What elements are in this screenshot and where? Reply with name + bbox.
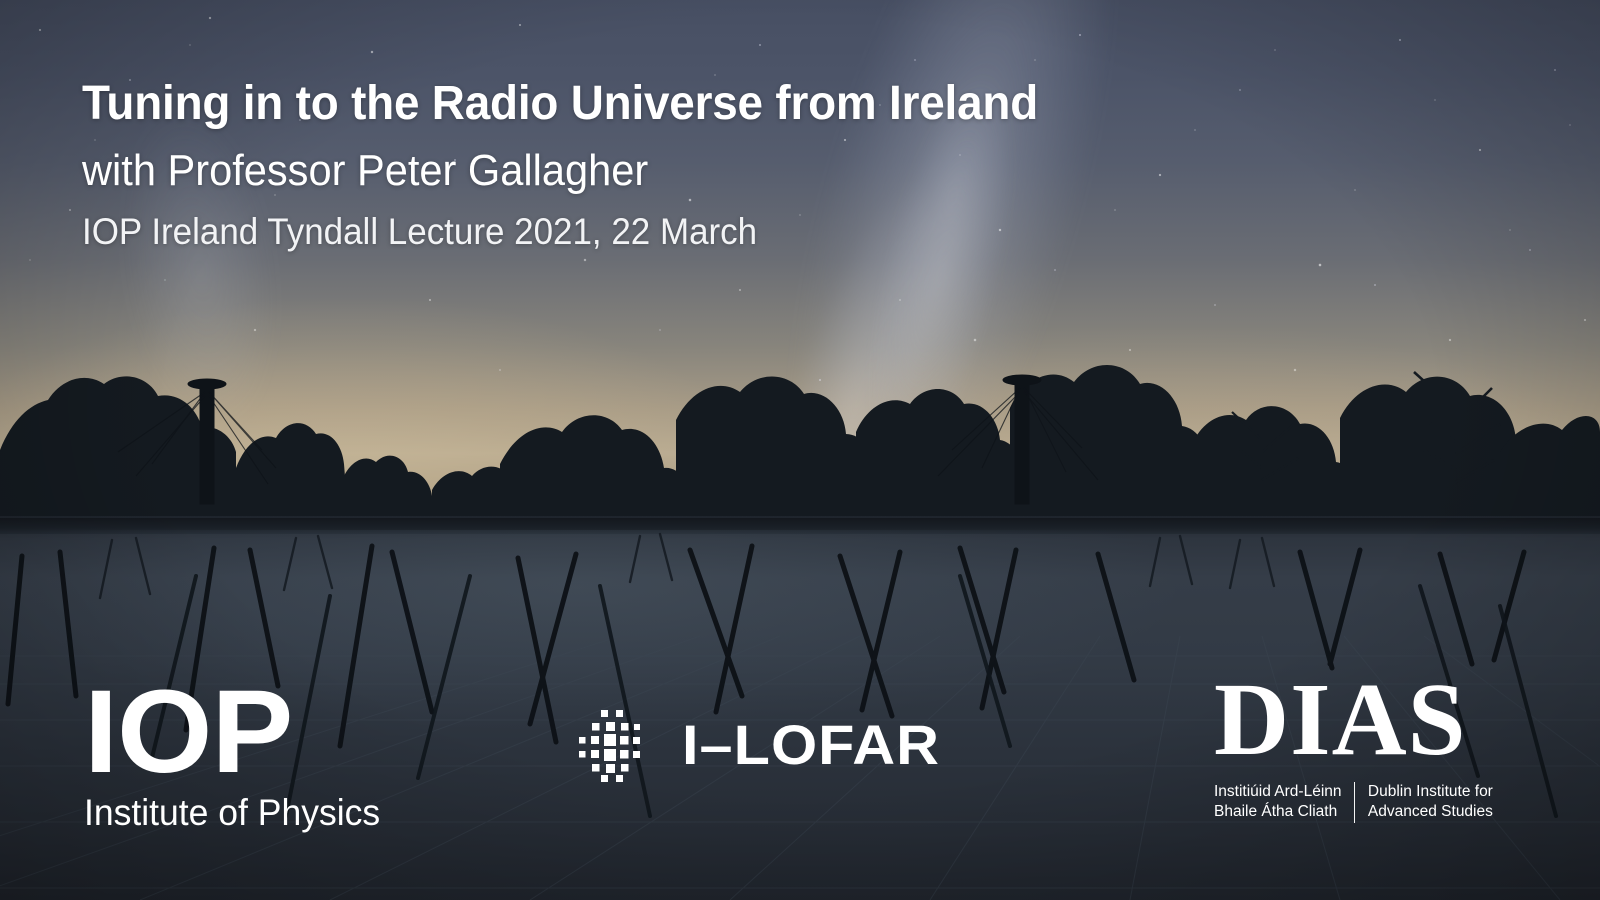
dias-english-line-1: Dublin Institute for [1368,782,1493,802]
ilofar-logo[interactable]: I–LOFAR [576,708,925,782]
dias-tagline-irish: Institiúid Ard-Léinn Bhaile Átha Cliath [1214,782,1354,823]
slide-title: Tuning in to the Radio Universe from Ire… [82,76,1228,133]
lecture-title-slide: Tuning in to the Radio Universe from Ire… [0,0,1600,900]
dot-matrix-icon [576,708,648,782]
iop-wordmark: IOP [84,678,365,788]
dias-irish-line-2: Bhaile Átha Cliath [1214,802,1342,822]
dias-english-line-2: Advanced Studies [1368,802,1493,822]
slide-text-block: Tuning in to the Radio Universe from Ire… [82,76,1282,253]
iop-logo[interactable]: IOP Institute of Physics [84,678,354,831]
dias-wordmark: DIAS [1214,668,1514,772]
slide-event-line: IOP Ireland Tyndall Lecture 2021, 22 Mar… [82,210,1216,254]
dias-tagline: Institiúid Ard-Léinn Bhaile Átha Cliath … [1214,782,1514,823]
antenna-masts [0,300,1600,540]
sponsor-logo-row: IOP Institute of Physics [0,660,1600,860]
dias-logo[interactable]: DIAS Institiúid Ard-Léinn Bhaile Átha Cl… [1214,668,1514,823]
iop-tagline: Institute of Physics [84,794,343,831]
dias-tagline-divider [1354,782,1355,823]
dias-tagline-english: Dublin Institute for Advanced Studies [1355,782,1493,823]
dias-irish-line-1: Institiúid Ard-Léinn [1214,782,1342,802]
slide-speaker: with Professor Peter Gallagher [82,145,1216,197]
ilofar-wordmark: I–LOFAR [682,717,940,773]
